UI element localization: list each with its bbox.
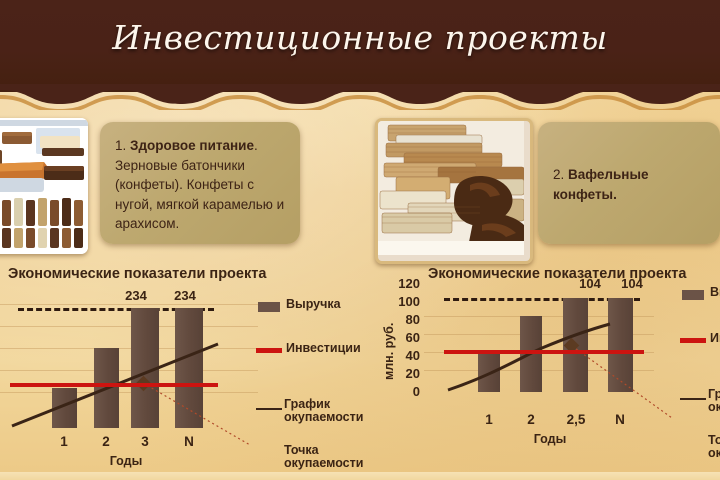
project-card-2: 2. Вафельные конфеты. xyxy=(538,122,720,244)
slide-canvas: Инвестиционные проекты xyxy=(0,0,720,480)
legend-swatch-revenue xyxy=(682,290,704,300)
cat-label-1: 1 xyxy=(469,412,509,427)
x-axis-label: Годы xyxy=(510,432,590,446)
slide-header: Инвестиционные проекты xyxy=(0,0,720,92)
bar-value-label: 234 xyxy=(165,288,205,303)
page-title: Инвестиционные проекты xyxy=(0,18,720,57)
investment-line xyxy=(444,350,644,354)
legend-swatch-investment xyxy=(680,338,706,343)
card-2-number: 2. xyxy=(553,167,564,182)
cat-label-2: 2 xyxy=(511,412,551,427)
legend-payback-point-line1: Точка xyxy=(708,433,720,447)
card-1-number: 1. xyxy=(115,138,126,153)
scalloped-divider xyxy=(0,84,720,110)
cat-label-4: N xyxy=(169,434,209,449)
chart-right: Экономические показатели проекта 120 100… xyxy=(360,262,720,480)
legend-swatch-investment xyxy=(256,348,282,353)
legend-payback-point-line2: окупа xyxy=(708,446,720,460)
legend-label-payback-point: Точка окупаемости xyxy=(284,444,363,470)
legend-swatch-revenue xyxy=(258,302,280,312)
chart-left: Экономические показатели проекта 234 234… xyxy=(0,262,360,480)
legend-label-payback-point: Точка окупа xyxy=(708,434,720,460)
cat-label-3: 2,5 xyxy=(555,412,597,427)
legend-swatch-payback-graph xyxy=(256,408,282,410)
legend-label-revenue: Выручка xyxy=(286,298,341,311)
cat-label-4: N xyxy=(600,412,640,427)
legend-label-investment: Инв xyxy=(710,332,720,345)
wafer-candy-photo xyxy=(375,118,533,264)
legend-label-payback-graph: График окупаемости xyxy=(284,398,363,424)
bottom-strip xyxy=(0,472,720,480)
cat-label-3: 3 xyxy=(125,434,165,449)
x-axis-label: Годы xyxy=(86,454,166,468)
legend-payback-graph-line1: График xyxy=(284,397,330,411)
legend-payback-graph-line2: оку xyxy=(708,400,720,414)
legend-payback-point-line1: Точка xyxy=(284,443,319,457)
chart-left-title: Экономические показатели проекта xyxy=(8,266,266,282)
legend-payback-graph-line1: Граф xyxy=(708,387,720,401)
gridline xyxy=(0,304,258,305)
legend-label-investment: Инвестиции xyxy=(286,342,361,355)
legend-label-revenue: Выр xyxy=(710,286,720,299)
payback-overlay-left xyxy=(0,308,300,448)
bar-value-label: 234 xyxy=(116,288,156,303)
legend-payback-graph-line2: окупаемости xyxy=(284,410,363,424)
legend-payback-point-line2: окупаемости xyxy=(284,456,363,470)
card-1-heading: Здоровое питание xyxy=(130,138,254,153)
legend-label-payback-graph: Граф оку xyxy=(708,388,720,414)
cat-label-1: 1 xyxy=(44,434,84,449)
cereal-bars-photo xyxy=(0,118,88,254)
investment-line xyxy=(10,383,218,387)
legend-swatch-payback-graph xyxy=(680,398,706,400)
cat-label-2: 2 xyxy=(86,434,126,449)
card-2-heading: Вафельные конфеты. xyxy=(553,167,649,202)
project-card-1: 1. Здоровое питание. Зерновые батончики … xyxy=(100,122,300,244)
